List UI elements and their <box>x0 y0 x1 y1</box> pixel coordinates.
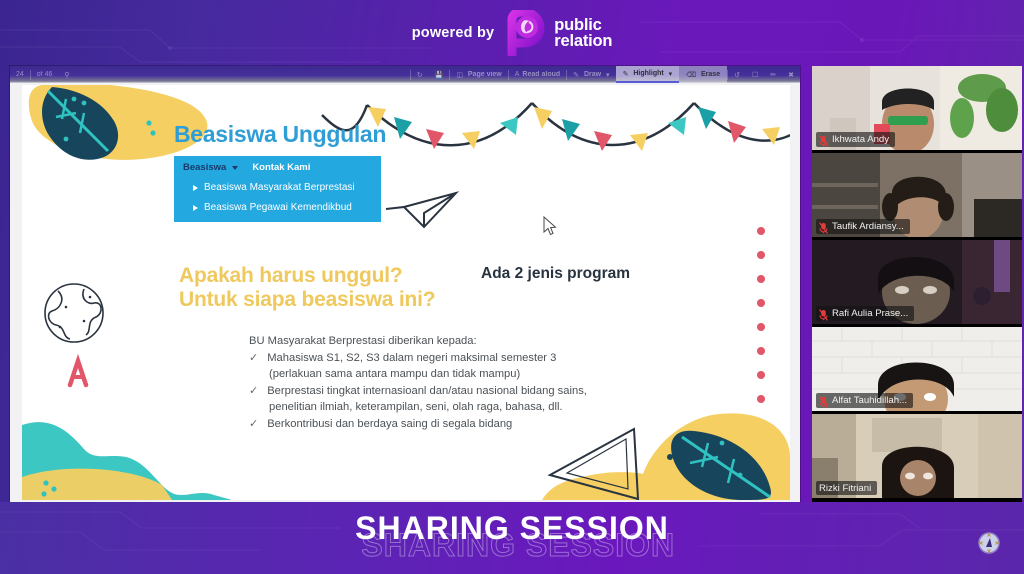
participant-name-bar: Rizki Fitriani <box>816 481 877 495</box>
edit-icon[interactable]: ✏ <box>764 71 782 79</box>
bullet-sub: penelitian ilmiah, keterampilan, seni, o… <box>249 399 669 416</box>
fit-page-icon[interactable]: ☐ <box>746 71 764 79</box>
pdf-page[interactable]: Beasiswa Unggulan Beasiswa Kontak Kami B… <box>22 85 790 500</box>
menu-top-row: Beasiswa Kontak Kami <box>183 162 372 173</box>
public-relation-p-icon <box>504 10 546 56</box>
participant-name: Taufik Ardiansy... <box>832 221 904 232</box>
mouse-cursor-icon <box>543 216 557 236</box>
slide-callout: Ada 2 jenis program <box>481 265 630 283</box>
globe-doodle-icon <box>45 284 103 342</box>
shared-screen[interactable]: 24 of 46 ⚲ ↻ 💾 ◫ Page view ARead aloud ✎… <box>10 66 800 502</box>
menu-primary-label: Beasiswa <box>183 162 226 173</box>
page-view-label: Page view <box>468 71 502 78</box>
read-aloud-label: Read aloud <box>522 71 560 78</box>
participant-name-bar: Taufik Ardiansy... <box>816 219 910 234</box>
mic-muted-icon <box>819 395 828 407</box>
bottom-banner: SHARING SESSION SHARING SESSION <box>0 502 1024 574</box>
highlight-label: Highlight <box>633 70 663 77</box>
undo-icon[interactable]: ↺ <box>728 71 746 79</box>
slide-menu-box: Beasiswa Kontak Kami Beasiswa Masyarakat… <box>174 156 381 222</box>
participant-name: Rafi Aulia Prase... <box>832 308 908 319</box>
caret-right-icon <box>193 205 198 211</box>
participant-name-bar: Ikhwata Andy <box>816 132 895 147</box>
menu-item-label: Beasiswa Pegawai Kemendikbud <box>204 202 352 213</box>
heading-line-1: Apakah harus unggul? <box>179 264 435 288</box>
slide-body: BU Masyarakat Berprestasi diberikan kepa… <box>249 333 669 432</box>
read-aloud-button[interactable]: ARead aloud <box>509 71 566 78</box>
banner-title-ghost: SHARING SESSION <box>361 527 675 564</box>
check-icon: ✓ <box>249 350 258 366</box>
bullet-main: Mahasiswa S1, S2, S3 dalam negeri maksim… <box>267 350 556 367</box>
body-intro: BU Masyarakat Berprestasi diberikan kepa… <box>249 333 669 350</box>
participant-tile-active-speaker[interactable]: Rizki Fitriani <box>812 414 1022 498</box>
erase-label: Erase <box>701 71 720 78</box>
menu-item: Beasiswa Pegawai Kemendikbud <box>183 202 372 213</box>
draw-button[interactable]: ✎ Draw ▾ <box>567 71 615 79</box>
logo-line-2: relation <box>554 33 612 50</box>
public-relation-wordmark: public relation <box>554 17 612 50</box>
participant-name: Rizki Fitriani <box>819 483 871 494</box>
participant-name: Ikhwata Andy <box>832 134 889 145</box>
caret-right-icon <box>193 185 198 191</box>
banner-title-wrap: SHARING SESSION SHARING SESSION <box>0 510 1024 547</box>
erase-button[interactable]: ⌫ Erase <box>679 66 727 83</box>
pdf-viewer-toolbar[interactable]: 24 of 46 ⚲ ↻ 💾 ◫ Page view ARead aloud ✎… <box>10 66 800 83</box>
mic-muted-icon <box>819 134 828 146</box>
page-number-input[interactable]: 24 <box>10 71 30 78</box>
page-view-button[interactable]: ◫ Page view <box>450 71 507 79</box>
branding-header: powered by public relation <box>0 0 1024 66</box>
heading-line-2: Untuk siapa beasiswa ini? <box>179 288 435 312</box>
slide-title: Beasiswa Unggulan <box>174 121 386 148</box>
slide-question-heading: Apakah harus unggul? Untuk siapa beasisw… <box>179 264 435 313</box>
bullet-main: Berkontribusi dan berdaya saing di segal… <box>267 416 512 433</box>
chevron-down-icon <box>232 166 238 170</box>
close-icon[interactable]: ✖ <box>782 71 800 79</box>
bullet-item: ✓ Berprestasi tingkat internasioanl dan/… <box>249 383 669 400</box>
paper-plane-icon <box>386 193 456 227</box>
bullet-item: ✓ Berkontribusi dan berdaya saing di seg… <box>249 416 669 433</box>
bullet-sub: (perlakuan sama antara mampu dan tidak m… <box>249 366 669 383</box>
participant-name: Alfat Tauhidillah... <box>832 395 907 406</box>
participant-tile[interactable]: Ikhwata Andy <box>812 66 1022 150</box>
participant-tile[interactable]: Taufik Ardiansy... <box>812 153 1022 237</box>
menu-item-label: Beasiswa Masyarakat Berprestasi <box>204 182 355 193</box>
check-icon: ✓ <box>249 416 258 432</box>
menu-secondary-label: Kontak Kami <box>252 162 310 173</box>
logo-line-1: public <box>554 17 612 34</box>
rotate-icon[interactable]: ↻ <box>411 71 429 79</box>
mic-muted-icon <box>819 221 828 233</box>
draw-label: Draw <box>584 71 601 78</box>
participant-name-bar: Alfat Tauhidillah... <box>816 393 913 408</box>
menu-item: Beasiswa Masyarakat Berprestasi <box>183 182 372 193</box>
participant-tile[interactable]: Alfat Tauhidillah... <box>812 327 1022 411</box>
letter-a-doodle-icon <box>70 361 86 385</box>
save-icon[interactable]: 💾 <box>429 71 450 79</box>
circular-emblem-icon <box>976 530 1002 556</box>
bullet-item: ✓ Mahasiswa S1, S2, S3 dalam negeri maks… <box>249 350 669 367</box>
page-total-label: of 46 <box>31 71 59 78</box>
search-icon[interactable]: ⚲ <box>58 71 75 79</box>
bunting-garland <box>322 103 790 151</box>
powered-by-label: powered by <box>412 25 495 41</box>
bullet-main: Berprestasi tingkat internasioanl dan/at… <box>267 383 587 400</box>
participant-video-list: Ikhwata Andy Taufik Ardiansy... <box>812 66 1022 502</box>
mic-muted-icon <box>819 308 828 320</box>
highlight-button[interactable]: ✎ Highlight ▾ <box>616 66 680 83</box>
dot-column <box>757 227 765 403</box>
participant-tile[interactable]: Rafi Aulia Prase... <box>812 240 1022 324</box>
check-icon: ✓ <box>249 383 258 399</box>
participant-name-bar: Rafi Aulia Prase... <box>816 306 914 321</box>
